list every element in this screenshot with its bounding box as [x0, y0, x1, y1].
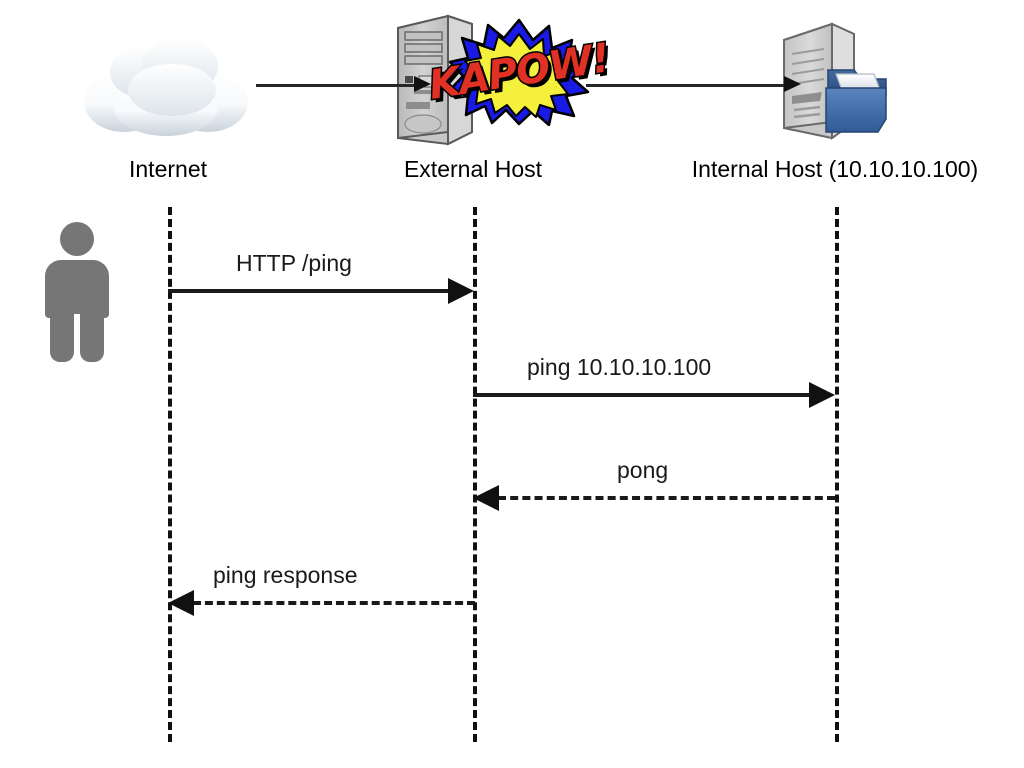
participant-label-internet: Internet: [68, 158, 268, 181]
message-label-ping-response: ping response: [213, 564, 358, 587]
connector-arrowhead-external: [414, 76, 431, 92]
actor-leg-gap: [74, 314, 80, 362]
kapow-label: KAPOW!: [440, 8, 597, 137]
message-line-http-ping: [168, 289, 450, 293]
connector-external-to-internal: [586, 84, 786, 87]
message-line-pong: [498, 496, 835, 500]
message-arrowhead-http-ping: [448, 278, 474, 304]
message-label-pong: pong: [617, 459, 668, 482]
message-label-http-ping: HTTP /ping: [236, 252, 352, 275]
sequence-diagram-canvas: KAPOW!: [0, 0, 1024, 768]
lifeline-internet: [168, 207, 172, 742]
connector-arrowhead-internal: [784, 76, 801, 92]
message-arrowhead-ping-response: [168, 590, 194, 616]
participant-label-external-host: External Host: [363, 158, 583, 181]
message-arrowhead-ping-ip: [809, 382, 835, 408]
message-label-ping-ip: ping 10.10.10.100: [527, 356, 711, 379]
lifeline-internal-host: [835, 207, 839, 742]
actor-head: [60, 222, 94, 256]
kapow-burst-badge: KAPOW!: [448, 18, 590, 126]
actor-leg-right: [80, 310, 104, 362]
message-line-ping-ip: [473, 393, 810, 397]
user-actor-icon: [40, 222, 114, 362]
actor-leg-left: [50, 310, 74, 362]
participant-label-internal-host: Internal Host (10.10.10.100): [655, 158, 1015, 181]
cloud-icon: [80, 30, 250, 140]
message-arrowhead-pong: [473, 485, 499, 511]
message-line-ping-response: [193, 601, 475, 605]
connector-internet-to-external: [256, 84, 416, 87]
